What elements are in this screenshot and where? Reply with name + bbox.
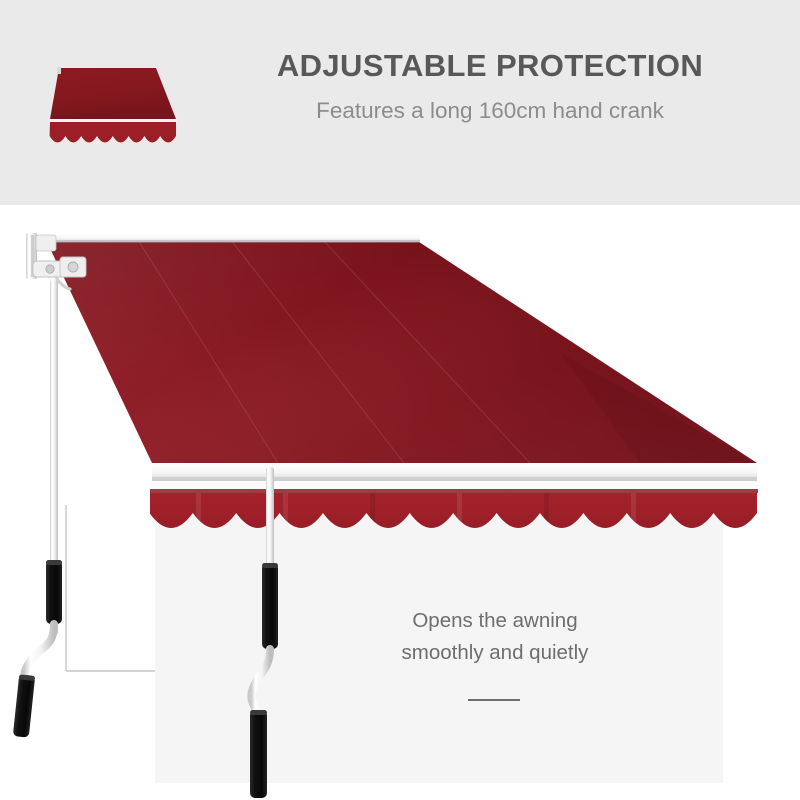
header-band: ADJUSTABLE PROTECTION Features a long 16… bbox=[0, 0, 800, 205]
roller-tube bbox=[44, 234, 420, 243]
header-text-block: ADJUSTABLE PROTECTION Features a long 16… bbox=[200, 48, 780, 124]
panel-outline bbox=[66, 505, 155, 671]
awning-thumbnail-icon bbox=[44, 66, 178, 152]
mounted-hand-crank bbox=[13, 279, 62, 738]
canopy-fabric bbox=[46, 240, 757, 463]
product-feature-image: ADJUSTABLE PROTECTION Features a long 16… bbox=[0, 0, 800, 800]
product-illustration bbox=[0, 205, 800, 800]
page-title: ADJUSTABLE PROTECTION bbox=[200, 48, 780, 84]
page-subtitle: Features a long 160cm hand crank bbox=[200, 97, 780, 124]
front-bar bbox=[150, 463, 758, 493]
scalloped-valance bbox=[150, 491, 758, 549]
